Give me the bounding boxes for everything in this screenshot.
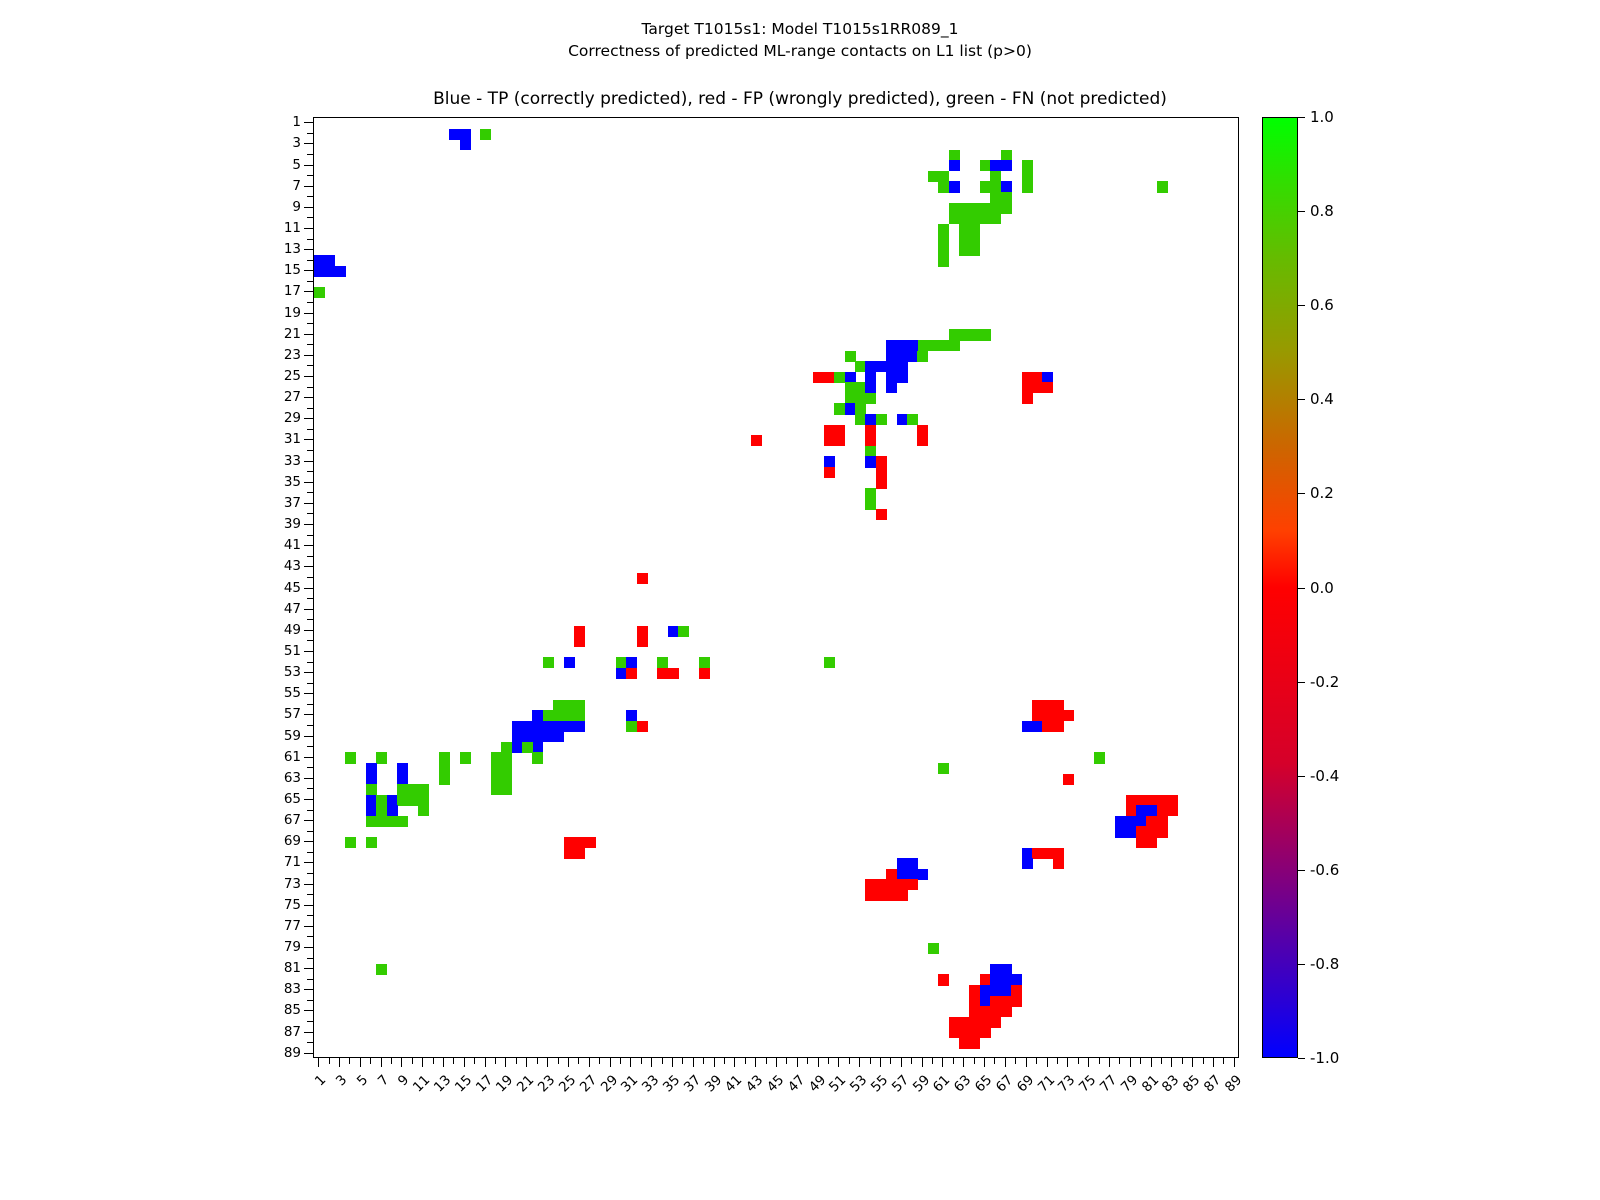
heatmap-cell-tp [917,869,928,880]
x-tick [464,1058,465,1067]
x-tick [349,1058,350,1064]
heatmap-cell-fp [886,879,897,890]
y-tick-label: 23 [243,347,301,363]
heatmap-cell-fp [574,837,585,848]
heatmap-cell-fp [1042,382,1053,393]
heatmap-cell-fn [376,964,387,975]
contact-map-axes[interactable] [313,117,1239,1058]
colorbar-tick-label: -0.4 [1310,767,1339,785]
heatmap-cell-fp [834,425,845,436]
heatmap-cell-fn [574,710,585,721]
y-tick [304,989,313,990]
x-tick [1161,1058,1162,1064]
heatmap-cell-fn [1094,752,1105,763]
heatmap-cell-fn [949,203,960,214]
heatmap-cell-tp [886,361,897,372]
x-tick [1099,1058,1100,1064]
heatmap-cell-tp [522,731,533,742]
heatmap-cell-tp [553,721,564,732]
colorbar-tick-label: -0.2 [1310,673,1339,691]
heatmap-cell-fp [949,1027,960,1038]
heatmap-cell-fn [928,943,939,954]
x-tick [786,1058,787,1064]
heatmap-cell-tp [824,456,835,467]
heatmap-cell-tp [366,795,377,806]
y-tick-label: 27 [243,389,301,405]
y-tick [307,577,313,578]
heatmap-cell-tp [1136,816,1147,827]
heatmap-cell-fp [824,425,835,436]
heatmap-cell-tp [990,985,1001,996]
x-tick [537,1058,538,1064]
title-line-2: Correctness of predicted ML-range contac… [0,40,1600,62]
colorbar-tick-label: 1.0 [1310,108,1334,126]
heatmap-cell-fn [938,234,949,245]
x-tick [818,1058,819,1067]
colorbar-tick [1298,870,1305,871]
y-tick [304,736,313,737]
colorbar-tick [1298,493,1305,494]
y-tick [307,640,313,641]
heatmap-cell-tp [616,668,627,679]
x-tick [828,1058,829,1064]
y-tick [304,207,313,208]
y-tick-label: 33 [243,453,301,469]
heatmap-cell-fn [969,245,980,256]
y-tick [307,1042,313,1043]
colorbar-tick-label: 0.4 [1310,390,1334,408]
heatmap-cell-fp [1032,700,1043,711]
y-tick [307,429,313,430]
y-tick [304,630,313,631]
heatmap-cell-fp [637,721,648,732]
heatmap-cell-fn [501,763,512,774]
heatmap-cell-fp [917,435,928,446]
y-tick-label: 35 [243,474,301,490]
heatmap-cell-tp [387,805,398,816]
x-tick [401,1058,402,1067]
heatmap-cell-fn [418,805,429,816]
colorbar-tick [1298,964,1305,965]
x-tick [974,1058,975,1064]
y-tick-label: 61 [243,749,301,765]
heatmap-cell-fn [491,752,502,763]
x-tick [1067,1058,1068,1067]
x-tick [1140,1058,1141,1064]
heatmap-cell-fn [834,403,845,414]
heatmap-cell-fn [553,700,564,711]
heatmap-cell-fn [543,657,554,668]
x-tick [329,1058,330,1064]
y-tick [307,746,313,747]
heatmap-cell-fp [1146,816,1157,827]
x-tick [589,1058,590,1067]
heatmap-cell-fp [980,1006,991,1017]
x-tick [360,1058,361,1067]
heatmap-cell-tp [324,266,335,277]
x-tick [870,1058,871,1064]
heatmap-cell-fn [626,721,637,732]
heatmap-cell-tp [1126,826,1137,837]
y-tick [307,810,313,811]
y-tick-label: 87 [243,1024,301,1040]
heatmap-cell-fn [376,795,387,806]
heatmap-cell-fn [501,784,512,795]
heatmap-cell-fn [865,393,876,404]
y-tick [304,165,313,166]
heatmap-cell-fn [543,710,554,721]
x-tick [1234,1058,1235,1067]
heatmap-cell-tp [532,710,543,721]
y-tick [304,503,313,504]
heatmap-cell-fn [1001,192,1012,203]
heatmap-cell-fn [439,763,450,774]
y-tick-label: 3 [243,135,301,151]
heatmap-cell-fp [585,837,596,848]
heatmap-cell-fp [1126,805,1137,816]
heatmap-cell-fp [1053,858,1064,869]
heatmap-cell-tp [886,382,897,393]
heatmap-cell-fn [969,203,980,214]
x-tick [755,1058,756,1067]
heatmap-cell-fp [1032,710,1043,721]
colorbar-tick [1298,682,1305,683]
heatmap-cell-fn [959,234,970,245]
heatmap-cell-fn [376,805,387,816]
y-tick [307,196,313,197]
heatmap-cell-tp [886,351,897,362]
y-tick-label: 15 [243,262,301,278]
y-tick-label: 17 [243,283,301,299]
x-tick [1109,1058,1110,1067]
x-tick [1036,1058,1037,1064]
x-tick [1130,1058,1131,1067]
y-tick [304,1053,313,1054]
heatmap-cell-fn [574,700,585,711]
y-tick [304,334,313,335]
x-tick [1119,1058,1120,1064]
x-tick [724,1058,725,1064]
x-tick [984,1058,985,1067]
heatmap-cell-fp [1032,848,1043,859]
x-tick [558,1058,559,1064]
y-tick [307,344,313,345]
heatmap-cell-fp [1146,837,1157,848]
x-tick [651,1058,652,1067]
y-tick-label: 19 [243,305,301,321]
x-tick [838,1058,839,1067]
x-tick [505,1058,506,1067]
heatmap-cell-tp [460,129,471,140]
colorbar-tick-label: -0.8 [1310,955,1339,973]
x-tick [1192,1058,1193,1067]
y-tick [307,788,313,789]
x-tick [568,1058,569,1067]
x-tick [932,1058,933,1064]
y-tick [304,609,313,610]
x-tick [599,1058,600,1064]
y-tick-label: 49 [243,622,301,638]
x-tick [963,1058,964,1067]
heatmap-cell-fp [865,879,876,890]
heatmap-cell-fp [886,890,897,901]
heatmap-cell-fp [865,435,876,446]
heatmap-cell-fp [886,869,897,880]
heatmap-cell-fn [938,340,949,351]
y-tick-label: 53 [243,664,301,680]
x-tick [890,1058,891,1064]
heatmap-cell-fp [969,985,980,996]
x-tick [1026,1058,1027,1067]
heatmap-cell-fp [1053,710,1064,721]
heatmap-cell-fn [928,171,939,182]
heatmap-cell-tp [512,742,523,753]
y-tick [307,450,313,451]
heatmap-cell-fn [865,488,876,499]
heatmap-cell-fp [1157,816,1168,827]
heatmap-cell-tp [1136,805,1147,816]
heatmap-cell-tp [907,351,918,362]
y-tick [307,513,313,514]
y-tick-label: 39 [243,516,301,532]
heatmap-cell-fn [980,181,991,192]
heatmap-cell-fn [990,203,1001,214]
x-tick [703,1058,704,1064]
heatmap-cell-fn [418,795,429,806]
x-tick [339,1058,340,1067]
heatmap-cell-fn [949,329,960,340]
heatmap-cell-fp [574,636,585,647]
colorbar-tick-label: 0.6 [1310,296,1334,314]
y-tick-label: 55 [243,685,301,701]
heatmap-cell-tp [1146,805,1157,816]
x-tick [1151,1058,1152,1067]
y-tick-label: 9 [243,199,301,215]
y-tick [304,905,313,906]
heatmap-cell-tp [1126,816,1137,827]
heatmap-cell-fn [938,255,949,266]
heatmap-cell-fn [959,213,970,224]
heatmap-cell-tp [886,372,897,383]
heatmap-cell-fp [1146,795,1157,806]
heatmap-cell-fn [959,329,970,340]
y-tick [307,958,313,959]
heatmap-cell-tp [626,710,637,721]
x-tick [953,1058,954,1064]
heatmap-cell-fp [824,435,835,446]
y-tick-label: 57 [243,706,301,722]
x-tick [610,1058,611,1067]
heatmap-cell-tp [387,795,398,806]
heatmap-cell-fp [1146,826,1157,837]
heatmap-cell-fn [969,213,980,224]
heatmap-cell-fp [1053,721,1064,732]
y-tick [304,249,313,250]
x-tick [942,1058,943,1067]
y-tick-label: 51 [243,643,301,659]
y-tick [307,619,313,620]
heatmap-cell-tp [449,129,460,140]
heatmap-cell-fp [990,1006,1001,1017]
x-tick [391,1058,392,1064]
heatmap-cell-fn [969,224,980,235]
x-tick [682,1058,683,1064]
heatmap-cell-tp [397,774,408,785]
y-tick [307,767,313,768]
x-tick [1171,1058,1172,1067]
y-tick [304,926,313,927]
x-tick [1057,1058,1058,1064]
heatmap-cell-tp [845,403,856,414]
heatmap-cell-fp [990,1017,1001,1028]
y-tick [307,365,313,366]
heatmap-cell-fn [366,816,377,827]
x-tick [1047,1058,1048,1067]
x-tick [745,1058,746,1064]
x-tick [547,1058,548,1067]
y-tick [304,270,313,271]
heatmap-cell-fp [865,890,876,901]
heatmap-cell-tp [865,361,876,372]
heatmap-cell-fp [897,890,908,901]
colorbar[interactable] [1262,117,1298,1058]
y-tick-label: 43 [243,558,301,574]
x-tick [911,1058,912,1064]
heatmap-cell-tp [907,869,918,880]
figure-canvas: Target T1015s1: Model T1015s1RR089_1 Cor… [0,0,1600,1200]
heatmap-cell-fp [1022,393,1033,404]
heatmap-cell-tp [668,626,679,637]
x-tick [1203,1058,1204,1064]
heatmap-cell-fn [959,224,970,235]
y-tick [304,545,313,546]
heatmap-cell-fn [980,329,991,340]
heatmap-cell-fp [1032,372,1043,383]
heatmap-cell-fp [1022,382,1033,393]
colorbar-tick [1298,211,1305,212]
heatmap-cell-fn [959,245,970,256]
y-tick [307,831,313,832]
heatmap-cell-fn [855,382,866,393]
heatmap-cell-fn [855,403,866,414]
heatmap-cell-fn [397,784,408,795]
heatmap-cell-tp [335,266,346,277]
heatmap-cell-fn [938,245,949,256]
heatmap-cell-fp [876,467,887,478]
heatmap-cell-tp [865,456,876,467]
heatmap-cell-fn [855,393,866,404]
heatmap-cell-tp [1001,974,1012,985]
heatmap-cell-fp [637,626,648,637]
heatmap-cell-fp [574,626,585,637]
colorbar-tick [1298,776,1305,777]
title-line-1: Target T1015s1: Model T1015s1RR089_1 [0,18,1600,40]
y-tick [304,947,313,948]
heatmap-cell-tp [366,774,377,785]
heatmap-cell-tp [980,985,991,996]
heatmap-cell-tp [522,721,533,732]
heatmap-cell-tp [897,372,908,383]
heatmap-cell-tp [845,372,856,383]
y-tick-label: 45 [243,580,301,596]
heatmap-cell-fp [959,1027,970,1038]
y-tick [304,651,313,652]
heatmap-cell-fn [865,499,876,510]
heatmap-cell-fn [678,626,689,637]
heatmap-cell-tp [1001,160,1012,171]
heatmap-cell-fp [1022,372,1033,383]
y-tick-label: 47 [243,601,301,617]
heatmap-cell-tp [1001,964,1012,975]
heatmap-cell-tp [366,805,377,816]
heatmap-cell-tp [532,742,543,753]
x-tick [578,1058,579,1064]
y-tick-label: 71 [243,854,301,870]
y-tick [304,757,313,758]
y-tick [307,662,313,663]
heatmap-cell-fn [616,657,627,668]
y-tick [307,408,313,409]
heatmap-cell-tp [564,657,575,668]
x-tick [630,1058,631,1067]
heatmap-cell-fp [1042,848,1053,859]
heatmap-cell-fp [657,668,668,679]
heatmap-cell-tp [1115,826,1126,837]
heatmap-cell-fn [980,203,991,214]
heatmap-cell-fn [553,710,564,721]
y-tick [307,1000,313,1001]
x-tick [620,1058,621,1064]
x-tick [1015,1058,1016,1064]
y-tick [307,471,313,472]
heatmap-cell-fn [345,752,356,763]
y-tick [307,704,313,705]
heatmap-cell-fn [397,795,408,806]
heatmap-cell-fp [959,1017,970,1028]
heatmap-cell-tp [1001,985,1012,996]
x-tick [714,1058,715,1067]
heatmap-cell-fn [845,393,856,404]
heatmap-cell-tp [1001,181,1012,192]
heatmap-cell-tp [512,721,523,732]
heatmap-cell-tp [949,181,960,192]
heatmap-cell-fn [439,752,450,763]
heatmap-cell-fn [845,351,856,362]
heatmap-cell-fp [980,1027,991,1038]
heatmap-cell-tp [886,340,897,351]
y-tick [304,588,313,589]
heatmap-cell-tp [907,858,918,869]
heatmap-cell-fn [387,816,398,827]
x-tick [1088,1058,1089,1067]
heatmap-cell-fp [1011,996,1022,1007]
heatmap-cell-fn [408,795,419,806]
heatmap-cell-fn [1022,160,1033,171]
heatmap-cell-fp [1053,700,1064,711]
y-tick [304,439,313,440]
y-tick-label: 75 [243,897,301,913]
x-tick [662,1058,663,1064]
heatmap-cell-fp [907,879,918,890]
heatmap-cell-tp [314,266,325,277]
x-tick [370,1058,371,1064]
y-tick [304,143,313,144]
y-tick-label: 77 [243,918,301,934]
heatmap-cell-fp [1167,795,1178,806]
heatmap-cell-fn [564,700,575,711]
heatmap-cell-fn [917,340,928,351]
y-tick [307,936,313,937]
